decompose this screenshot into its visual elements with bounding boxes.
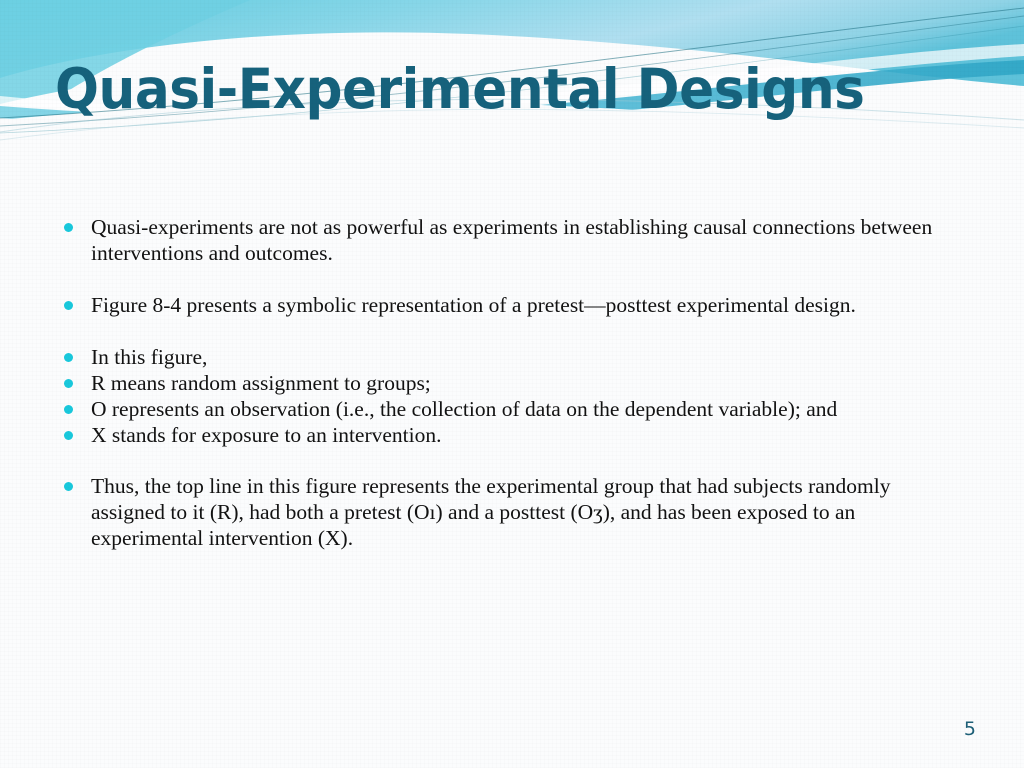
bullet-dot-icon — [64, 353, 73, 362]
bullet-dot-icon — [64, 379, 73, 388]
bullet-dot-icon — [64, 431, 73, 440]
list-item-label: Thus, the top line in this figure repres… — [91, 473, 948, 551]
list-item-label: O represents an observation (i.e., the c… — [91, 396, 948, 422]
list-item: Figure 8-4 presents a symbolic represent… — [58, 292, 948, 318]
list-item-label: X stands for exposure to an intervention… — [91, 422, 948, 448]
bullet-dot-icon — [64, 301, 73, 310]
bullet-list: Quasi-experiments are not as powerful as… — [58, 214, 948, 551]
list-item: Quasi-experiments are not as powerful as… — [58, 214, 948, 266]
list-item-label: R means random assignment to groups; — [91, 370, 948, 396]
bullet-dot-icon — [64, 405, 73, 414]
list-item-label: Figure 8-4 presents a symbolic represent… — [91, 292, 948, 318]
list-item: O represents an observation (i.e., the c… — [58, 396, 948, 422]
page-number: 5 — [964, 718, 976, 740]
spacer — [58, 318, 948, 344]
slide: Quasi-Experimental Designs Quasi-experim… — [0, 0, 1024, 768]
list-item: Thus, the top line in this figure repres… — [58, 473, 948, 551]
page-title: Quasi-Experimental Designs — [55, 58, 901, 120]
list-item: R means random assignment to groups; — [58, 370, 948, 396]
list-item: In this figure, — [58, 344, 948, 370]
spacer — [58, 266, 948, 292]
list-item-label: In this figure, — [91, 344, 948, 370]
bullet-dot-icon — [64, 223, 73, 232]
spacer — [58, 448, 948, 473]
list-item: X stands for exposure to an intervention… — [58, 422, 948, 448]
bullet-dot-icon — [64, 482, 73, 491]
list-item-label: Quasi-experiments are not as powerful as… — [91, 214, 948, 266]
